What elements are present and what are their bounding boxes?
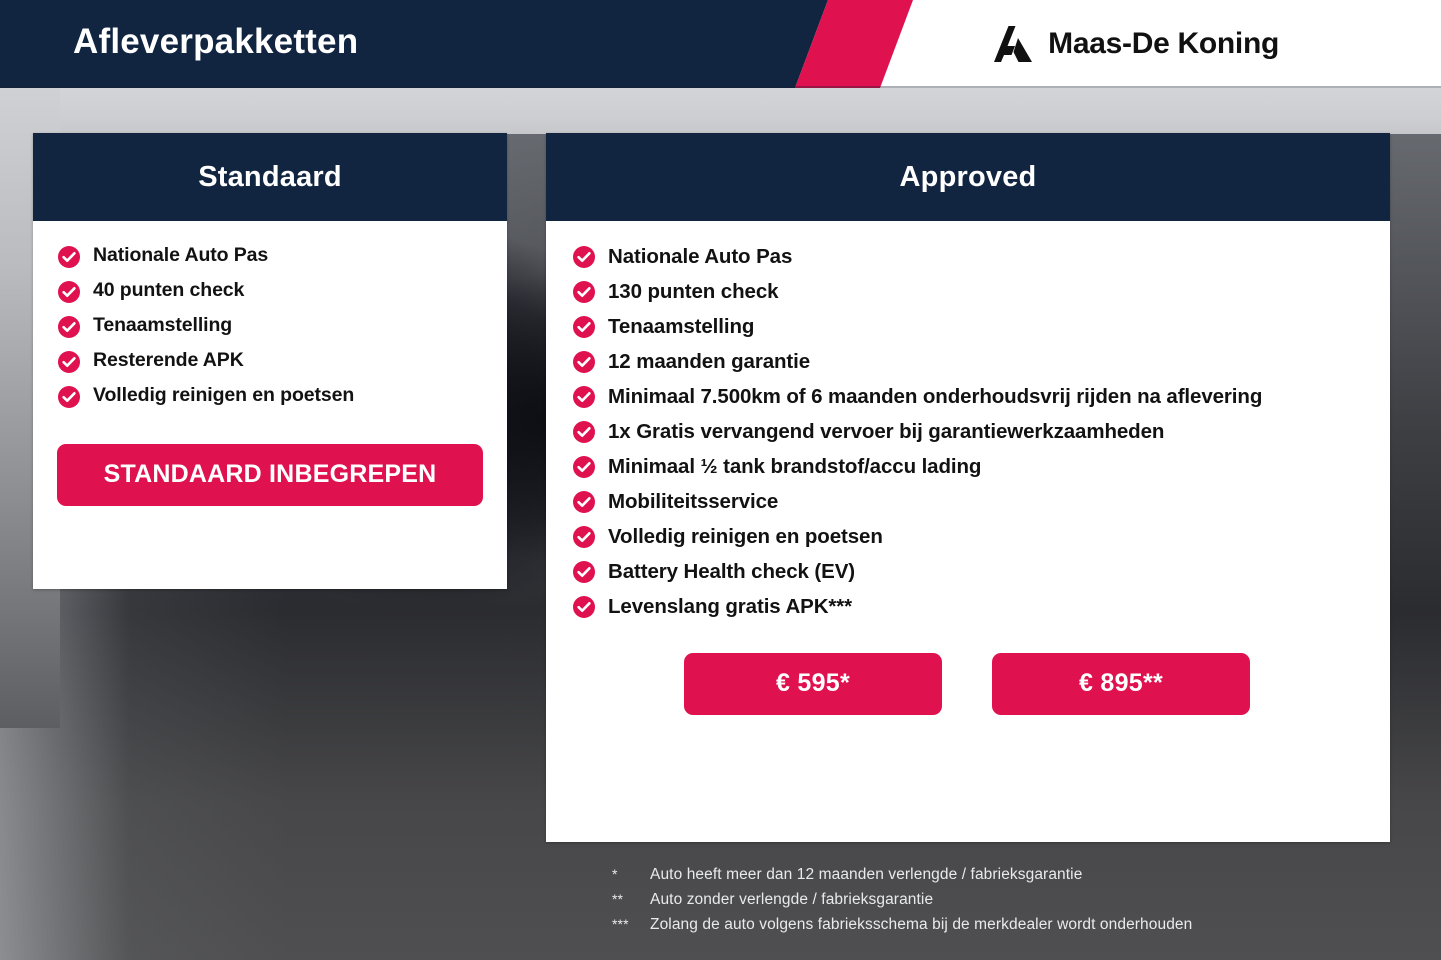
feature-label: Mobiliteitsservice	[608, 488, 778, 515]
check-circle-icon	[57, 280, 81, 304]
feature-item: Mobiliteitsservice	[572, 488, 1362, 515]
check-circle-icon	[572, 280, 596, 304]
check-circle-icon	[572, 420, 596, 444]
package-card-approved: Approved Nationale Auto Pas 130 punten c	[546, 133, 1390, 842]
background-top-strip	[0, 88, 1441, 134]
header-divider	[0, 86, 1441, 88]
brand-lockup: Maas-De Koning	[991, 25, 1279, 63]
footnote-marker: *	[612, 863, 650, 886]
feature-item: Minimaal 7.500km of 6 maanden onderhouds…	[572, 383, 1362, 410]
feature-item: Tenaamstelling	[572, 313, 1362, 340]
footnote-text: Auto heeft meer dan 12 maanden verlengde…	[650, 862, 1082, 887]
feature-label: 1x Gratis vervangend vervoer bij garanti…	[608, 418, 1164, 445]
check-circle-icon	[572, 315, 596, 339]
feature-item: Minimaal ½ tank brandstof/accu lading	[572, 453, 1362, 480]
feature-label: Minimaal ½ tank brandstof/accu lading	[608, 453, 981, 480]
card-title-approved: Approved	[900, 161, 1037, 194]
feature-list-approved: Nationale Auto Pas 130 punten check Tena…	[572, 243, 1362, 621]
footnote-row: *** Zolang de auto volgens fabrieksschem…	[612, 912, 1372, 937]
check-circle-icon	[572, 525, 596, 549]
page-header: Afleverpakketten Maas-De Koning	[0, 0, 1441, 88]
feature-item: 40 punten check	[57, 278, 483, 304]
check-circle-icon	[572, 350, 596, 374]
check-circle-icon	[572, 595, 596, 619]
feature-item: Battery Health check (EV)	[572, 558, 1362, 585]
feature-label: Levenslang gratis APK***	[608, 593, 852, 620]
feature-item: 1x Gratis vervangend vervoer bij garanti…	[572, 418, 1362, 445]
feature-item: 12 maanden garantie	[572, 348, 1362, 375]
package-card-standaard: Standaard Nationale Auto Pas 40 punten c	[33, 133, 507, 589]
feature-label: 130 punten check	[608, 278, 778, 305]
card-header-approved: Approved	[546, 133, 1390, 221]
check-circle-icon	[572, 560, 596, 584]
feature-item: Nationale Auto Pas	[57, 243, 483, 269]
feature-label: Minimaal 7.500km of 6 maanden onderhouds…	[608, 383, 1262, 410]
poster-root: Afleverpakketten Maas-De Koning Standaar…	[0, 0, 1441, 960]
feature-item: Tenaamstelling	[57, 313, 483, 339]
feature-label: Battery Health check (EV)	[608, 558, 855, 585]
feature-item: Nationale Auto Pas	[572, 243, 1362, 270]
card-body-approved: Nationale Auto Pas 130 punten check Tena…	[546, 221, 1390, 741]
feature-list-standaard: Nationale Auto Pas 40 punten check Tenaa…	[57, 243, 483, 409]
page-title: Afleverpakketten	[73, 22, 358, 62]
price-button-595[interactable]: € 595*	[684, 653, 942, 715]
maas-de-koning-m-mark-icon	[991, 25, 1035, 63]
check-circle-icon	[572, 490, 596, 514]
card-header-standaard: Standaard	[33, 133, 507, 221]
feature-label: Resterende APK	[93, 348, 244, 373]
feature-item: 130 punten check	[572, 278, 1362, 305]
check-circle-icon	[57, 315, 81, 339]
feature-label: 12 maanden garantie	[608, 348, 810, 375]
brand-name: Maas-De Koning	[1048, 27, 1279, 61]
feature-item: Levenslang gratis APK***	[572, 593, 1362, 620]
footnote-text: Zolang de auto volgens fabrieksschema bi…	[650, 912, 1192, 937]
feature-label: Tenaamstelling	[608, 313, 754, 340]
check-circle-icon	[57, 385, 81, 409]
footnote-marker: **	[612, 888, 650, 911]
check-circle-icon	[57, 350, 81, 374]
feature-label: Tenaamstelling	[93, 313, 232, 338]
feature-item: Volledig reinigen en poetsen	[572, 523, 1362, 550]
footnote-text: Auto zonder verlengde / fabrieksgarantie	[650, 887, 933, 912]
card-title-standaard: Standaard	[198, 161, 342, 194]
feature-label: Nationale Auto Pas	[608, 243, 792, 270]
footnotes-block: * Auto heeft meer dan 12 maanden verleng…	[612, 862, 1372, 937]
feature-item: Volledig reinigen en poetsen	[57, 383, 483, 409]
standaard-included-button[interactable]: STANDAARD INBEGREPEN	[57, 444, 483, 506]
feature-label: Volledig reinigen en poetsen	[93, 383, 354, 408]
price-button-895[interactable]: € 895**	[992, 653, 1250, 715]
feature-label: Nationale Auto Pas	[93, 243, 268, 268]
check-circle-icon	[572, 455, 596, 479]
footnote-marker: ***	[612, 913, 650, 936]
footnote-row: ** Auto zonder verlengde / fabrieksgaran…	[612, 887, 1372, 912]
check-circle-icon	[57, 245, 81, 269]
price-button-row: € 595* € 895**	[572, 629, 1362, 741]
check-circle-icon	[572, 385, 596, 409]
feature-label: 40 punten check	[93, 278, 244, 303]
feature-label: Volledig reinigen en poetsen	[608, 523, 883, 550]
check-circle-icon	[572, 245, 596, 269]
feature-item: Resterende APK	[57, 348, 483, 374]
footnote-row: * Auto heeft meer dan 12 maanden verleng…	[612, 862, 1372, 887]
card-body-standaard: Nationale Auto Pas 40 punten check Tenaa…	[33, 221, 507, 409]
standaard-cta-wrapper: STANDAARD INBEGREPEN	[33, 418, 507, 532]
